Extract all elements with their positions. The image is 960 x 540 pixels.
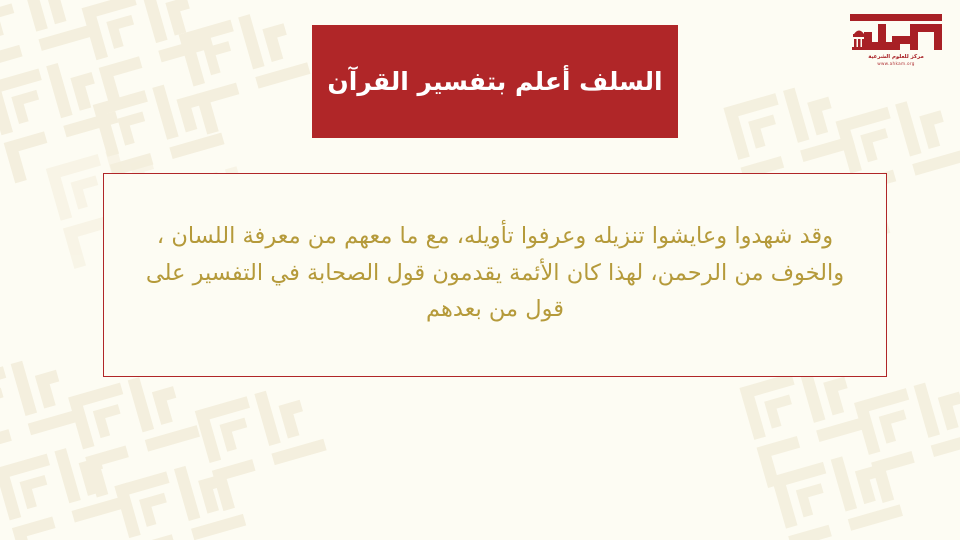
- body-paragraph: وقد شهدوا وعايشوا تنزيله وعرفوا تأويله، …: [130, 218, 860, 327]
- page-title: السلف أعلم بتفسير القرآن: [327, 65, 662, 99]
- logo-tagline: مركز للعلوم الشرعية: [844, 55, 948, 60]
- ahkam-logo: مركز للعلوم الشرعية www.ahkam.org: [844, 14, 948, 66]
- title-banner: السلف أعلم بتفسير القرآن: [312, 25, 678, 138]
- logo-url: www.ahkam.org: [844, 62, 948, 66]
- logo-wordmark-icon: [848, 22, 944, 52]
- logo-top-bar: [850, 14, 942, 21]
- content-box: وقد شهدوا وعايشوا تنزيله وعرفوا تأويله، …: [103, 173, 887, 377]
